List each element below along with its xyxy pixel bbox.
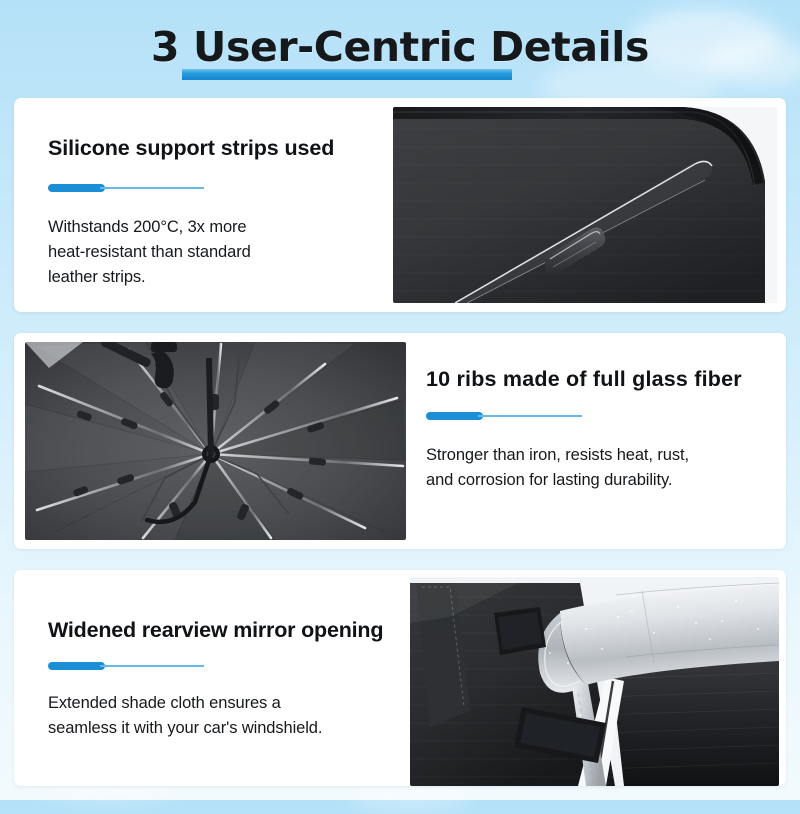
divider-thick-segment <box>426 412 483 420</box>
feature-text-pane: Widened rearview mirror opening Extended… <box>14 570 410 786</box>
feature-body-line: heat-resistant than standard <box>48 240 359 265</box>
divider-thick-segment <box>48 184 105 192</box>
feature-body-line: Withstands 200°C, 3x more <box>48 215 359 240</box>
page-title-area: 3 User-Centric Details <box>0 16 800 78</box>
page-title-suffix: Details <box>476 23 649 71</box>
rearview-mirror-opening-photo <box>410 577 779 786</box>
divider-thin-segment <box>100 187 204 189</box>
feature-body-line: leather strips. <box>48 265 359 290</box>
feature-body-line: seamless it with your car's windshield. <box>48 716 376 741</box>
page-title-prefix: 3 <box>151 23 193 71</box>
feature-text-pane: Silicone support strips used Withstands … <box>14 98 393 312</box>
divider-thick-segment <box>48 662 105 670</box>
silicone-support-strip-photo <box>393 107 777 303</box>
feature-body-line: Extended shade cloth ensures a <box>48 691 376 716</box>
feature-photo-pane <box>14 333 406 549</box>
feature-photo-pane <box>393 98 786 312</box>
accent-divider <box>48 184 204 193</box>
feature-card-3: Widened rearview mirror opening Extended… <box>14 570 786 786</box>
feature-card-2: 10 ribs made of full glass fiber Stronge… <box>14 333 786 549</box>
accent-divider <box>426 412 576 421</box>
feature-heading: Silicone support strips used <box>48 136 359 161</box>
feature-heading: Widened rearview mirror opening <box>48 618 376 643</box>
page-title-highlight: User-Centric <box>193 23 476 71</box>
feature-photo-pane <box>410 570 786 786</box>
glass-fiber-ribs-photo <box>25 342 406 540</box>
feature-heading: 10 ribs made of full glass fiber <box>426 367 776 392</box>
divider-thin-segment <box>478 415 582 417</box>
feature-body: Stronger than iron, resists heat, rust, … <box>426 443 776 493</box>
feature-text-pane: 10 ribs made of full glass fiber Stronge… <box>406 333 786 549</box>
page-title: 3 User-Centric Details <box>151 27 649 68</box>
accent-divider <box>48 662 204 671</box>
feature-body-line: and corrosion for lasting durability. <box>426 468 776 493</box>
feature-body: Extended shade cloth ensures a seamless … <box>48 691 376 741</box>
divider-thin-segment <box>100 665 204 667</box>
feature-body: Withstands 200°C, 3x more heat-resistant… <box>48 215 359 290</box>
feature-card-1: Silicone support strips used Withstands … <box>14 98 786 312</box>
feature-body-line: Stronger than iron, resists heat, rust, <box>426 443 776 468</box>
